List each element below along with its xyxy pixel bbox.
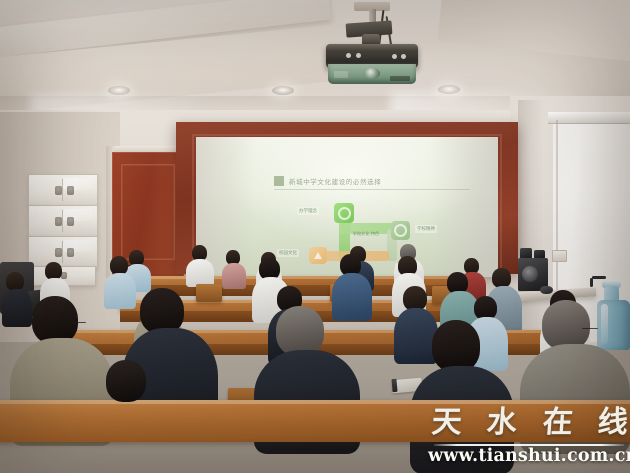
person-torso	[332, 273, 372, 321]
cabinet-lock-icon	[55, 217, 62, 226]
storage-cabinet[interactable]	[28, 174, 98, 206]
desk-edge	[0, 400, 630, 404]
person-head	[32, 296, 78, 344]
projector-indicator-four	[401, 54, 406, 59]
downlight-left-icon	[108, 86, 130, 95]
slide-diagram: 办学理念 学校精神 校园文化 发展愿景 学校文化 特色	[291, 199, 461, 271]
diagram-triangle-icon	[314, 252, 322, 259]
computer-mouse-icon[interactable]	[540, 286, 553, 294]
ceiling-projector	[318, 2, 428, 86]
glasses-icon	[72, 322, 86, 326]
glasses-icon	[125, 265, 131, 269]
desk-row-foreground	[0, 400, 630, 442]
cabinet-lock-icon	[67, 186, 74, 195]
wall-tap-stem	[590, 278, 593, 287]
diagram-label-top: 办学理念	[297, 207, 319, 215]
projector-indicator-three	[392, 54, 397, 59]
storage-cabinet[interactable]	[28, 236, 98, 268]
cabinet-lock-icon	[67, 217, 74, 226]
glasses-icon	[582, 328, 598, 332]
notebook-spine	[391, 379, 397, 392]
person-head	[492, 268, 511, 288]
projector-vent-right	[390, 76, 410, 81]
diagram-ring-icon	[394, 224, 407, 237]
slide-title-text: 新城中学文化建设的必然选择	[289, 176, 381, 186]
person-head	[106, 360, 146, 402]
downlight-center-icon	[272, 86, 294, 95]
diagram-label-right: 学校精神	[415, 225, 437, 233]
person-torso	[394, 308, 438, 364]
cabinet-lock-icon	[67, 248, 74, 257]
person-head	[542, 300, 590, 350]
water-bottle-highlight	[601, 304, 608, 344]
photograph-scene: 新城中学文化建设的必然选择 办学理念 学校精神 校园文化	[0, 0, 630, 473]
diagram-label-left: 校园文化	[277, 249, 299, 257]
door-panel	[121, 164, 175, 260]
diagram-center-label: 学校文化 特色	[349, 231, 383, 237]
chair-back	[196, 284, 222, 302]
slide-title-marker-icon	[274, 176, 284, 186]
cabinet-door-split	[62, 241, 63, 263]
cabinet-lock-icon	[55, 186, 62, 195]
person-torso	[104, 273, 136, 309]
projector-lens-icon	[364, 68, 380, 79]
ceiling-edge-right	[437, 0, 630, 63]
slide-title: 新城中学文化建设的必然选择	[274, 175, 474, 186]
projector-indicator-one	[346, 53, 351, 58]
person-torso	[186, 259, 214, 287]
storage-cabinet[interactable]	[28, 205, 98, 237]
projector-indicator-two	[356, 53, 361, 58]
projector-vent-left	[334, 71, 348, 78]
diagram-ring-icon	[338, 207, 351, 220]
cabinet-door-split	[62, 179, 63, 201]
downlight-right-icon	[438, 85, 460, 94]
curtain-rail	[548, 112, 630, 124]
cabinet-door-split	[62, 210, 63, 232]
wall-tap-icon	[592, 276, 606, 279]
slide-title-rule	[274, 189, 470, 190]
wall-socket	[552, 250, 567, 262]
diagram-node-right	[391, 221, 410, 240]
person-head	[276, 306, 324, 356]
desk-equipment-dial-icon	[522, 266, 538, 282]
person-torso	[2, 289, 32, 327]
cabinet-lock-icon	[55, 248, 62, 257]
diagram-node-left	[309, 247, 327, 264]
person-head	[432, 320, 480, 372]
person-torso	[222, 263, 246, 289]
diagram-node-top	[334, 203, 354, 223]
